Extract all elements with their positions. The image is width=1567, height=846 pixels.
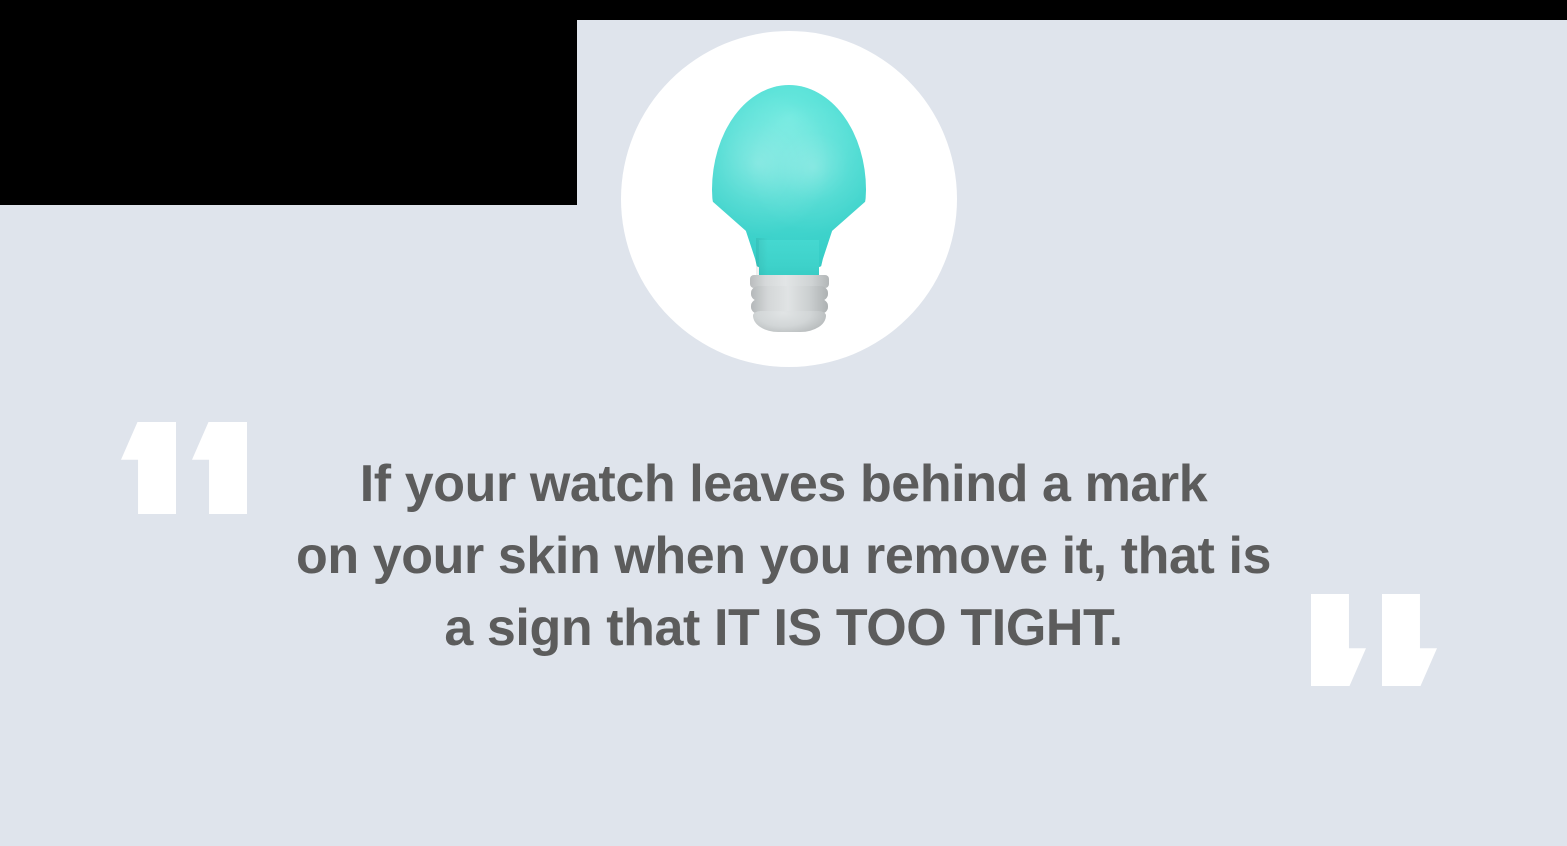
lightbulb-screw-base bbox=[750, 275, 829, 332]
card-corner-cutout bbox=[0, 20, 577, 205]
lightbulb-base-cap bbox=[753, 311, 826, 332]
close-quote-slab bbox=[1382, 594, 1437, 686]
quote-line: If your watch leaves behind a mark bbox=[221, 448, 1346, 520]
quote-line: on your skin when you remove it, that is bbox=[221, 520, 1346, 592]
open-quote-slab bbox=[121, 422, 176, 514]
lightbulb-icon bbox=[712, 85, 866, 332]
quote-text: If your watch leaves behind a mark on yo… bbox=[221, 448, 1346, 664]
quote-line: a sign that IT IS TOO TIGHT. bbox=[221, 592, 1346, 664]
quote-card-stage: If your watch leaves behind a mark on yo… bbox=[0, 0, 1567, 846]
